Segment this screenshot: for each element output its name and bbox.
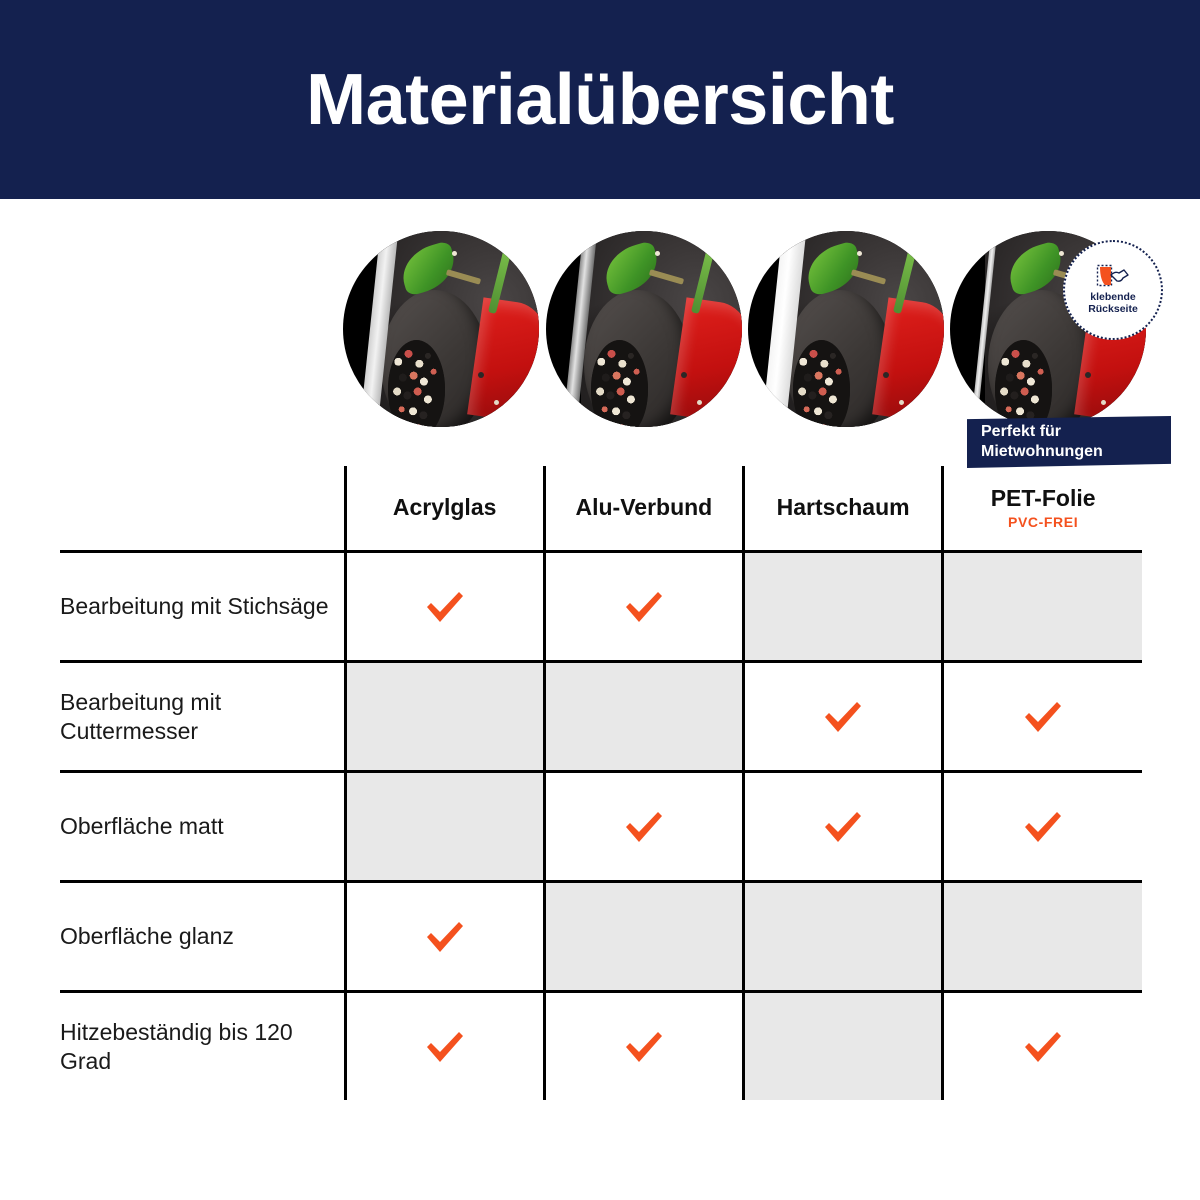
red-chili [467, 297, 539, 424]
row-label: Oberfläche matt [60, 772, 345, 882]
rental-apartment-ribbon: Perfekt für Mietwohnungen [967, 416, 1171, 468]
column-header-pet-folie: PET-Folie PVC-FREI [943, 466, 1142, 552]
checkmark-icon [622, 809, 666, 845]
product-thumbnail-hartschaum[interactable] [748, 231, 944, 427]
green-leaf [396, 240, 460, 297]
cell-r4-c0 [345, 992, 544, 1101]
peppercorn-speck [899, 400, 904, 405]
peppercorn-speck [681, 372, 687, 378]
cell-r4-c2 [744, 992, 943, 1101]
cell-r1-c3 [943, 662, 1142, 772]
cell-r2-c3 [943, 772, 1142, 882]
table-row: Hitzebeständig bis 120 Grad [60, 992, 1142, 1101]
cell-r0-c0 [345, 552, 544, 662]
peppercorn-speck [478, 372, 484, 378]
cell-r1-c2 [744, 662, 943, 772]
column-header-label: Alu-Verbund [546, 495, 742, 520]
chili-peppercorn-photo [783, 231, 944, 427]
peppercorn-speck [883, 372, 889, 378]
peel-sticker-icon [1096, 264, 1130, 290]
column-header-label: Hartschaum [745, 495, 941, 520]
green-leaf [1003, 240, 1067, 297]
column-header-alu-verbund: Alu-Verbund [544, 466, 743, 552]
cell-r4-c3 [943, 992, 1142, 1101]
cell-r1-c1 [544, 662, 743, 772]
checkmark-icon [423, 919, 467, 955]
bowl-interior [995, 340, 1052, 427]
green-leaf [599, 240, 663, 297]
leaf-stem [446, 269, 482, 284]
chili-peppercorn-photo [581, 231, 742, 427]
red-chili [872, 297, 944, 424]
peppercorn-speck [1059, 251, 1064, 256]
cell-r3-c3 [943, 882, 1142, 992]
peppercorns [388, 340, 445, 427]
checkmark-icon [423, 589, 467, 625]
column-header-badge-pvc-frei: PVC-FREI [944, 514, 1142, 530]
checkmark-icon [1021, 1029, 1065, 1065]
red-chili [670, 297, 742, 424]
peppercorns [591, 340, 648, 427]
badge-line-2: Rückseite [1088, 304, 1138, 316]
material-comparison-table: Acrylglas Alu-Verbund Hartschaum PET-Fol… [60, 466, 1142, 1100]
adhesive-back-badge: klebende Rückseite [1063, 240, 1163, 340]
cell-r2-c0 [345, 772, 544, 882]
ribbon-line-2: Mietwohnungen [981, 442, 1171, 462]
peppercorns [995, 340, 1052, 427]
cell-r0-c2 [744, 552, 943, 662]
product-thumbnail-alu-verbund[interactable] [546, 231, 742, 427]
table-row: Oberfläche matt [60, 772, 1142, 882]
cell-r3-c0 [345, 882, 544, 992]
row-label: Bearbeitung mit Cuttermesser [60, 662, 345, 772]
row-label: Hitzebeständig bis 120 Grad [60, 992, 345, 1101]
peppercorns [793, 340, 850, 427]
cell-r3-c2 [744, 882, 943, 992]
cell-r0-c1 [544, 552, 743, 662]
column-header-label: Acrylglas [347, 495, 543, 520]
cell-r2-c2 [744, 772, 943, 882]
column-header-label: PET-Folie [944, 486, 1142, 511]
cell-r4-c1 [544, 992, 743, 1101]
checkmark-icon [821, 699, 865, 735]
table-row: Oberfläche glanz [60, 882, 1142, 992]
peppercorn-speck [857, 251, 862, 256]
checkmark-icon [1021, 699, 1065, 735]
ribbon-line-1: Perfekt für [981, 422, 1171, 442]
table-row: Bearbeitung mit Stichsäge [60, 552, 1142, 662]
table-corner-cell [60, 466, 345, 552]
row-label: Oberfläche glanz [60, 882, 345, 992]
peppercorn-speck [494, 400, 499, 405]
cell-r1-c0 [345, 662, 544, 772]
peppercorn-speck [697, 400, 702, 405]
peppercorn-speck [655, 251, 660, 256]
checkmark-icon [622, 1029, 666, 1065]
product-image-circle [343, 231, 539, 427]
peppercorn-speck [1101, 400, 1106, 405]
product-image-circle [748, 231, 944, 427]
checkmark-icon [622, 589, 666, 625]
leaf-stem [649, 269, 685, 284]
table-header-row: Acrylglas Alu-Verbund Hartschaum PET-Fol… [60, 466, 1142, 552]
bowl-interior [591, 340, 648, 427]
checkmark-icon [423, 1029, 467, 1065]
checkmark-icon [821, 809, 865, 845]
column-header-acrylglas: Acrylglas [345, 466, 544, 552]
product-image-circle [546, 231, 742, 427]
leaf-stem [851, 269, 887, 284]
peppercorn-speck [452, 251, 457, 256]
product-thumbnail-acrylglas[interactable] [343, 231, 539, 427]
cell-r2-c1 [544, 772, 743, 882]
chili-peppercorn-photo [378, 231, 539, 427]
bowl-interior [388, 340, 445, 427]
column-header-hartschaum: Hartschaum [744, 466, 943, 552]
checkmark-icon [1021, 809, 1065, 845]
bowl-interior [793, 340, 850, 427]
cell-r0-c3 [943, 552, 1142, 662]
row-label: Bearbeitung mit Stichsäge [60, 552, 345, 662]
peppercorn-speck [1085, 372, 1091, 378]
page-header: Materialübersicht [0, 0, 1200, 199]
table-row: Bearbeitung mit Cuttermesser [60, 662, 1142, 772]
table-body: Bearbeitung mit Stichsäge Bearbeitung mi… [60, 552, 1142, 1101]
page-title: Materialübersicht [306, 64, 894, 136]
cell-r3-c1 [544, 882, 743, 992]
green-leaf [801, 240, 865, 297]
